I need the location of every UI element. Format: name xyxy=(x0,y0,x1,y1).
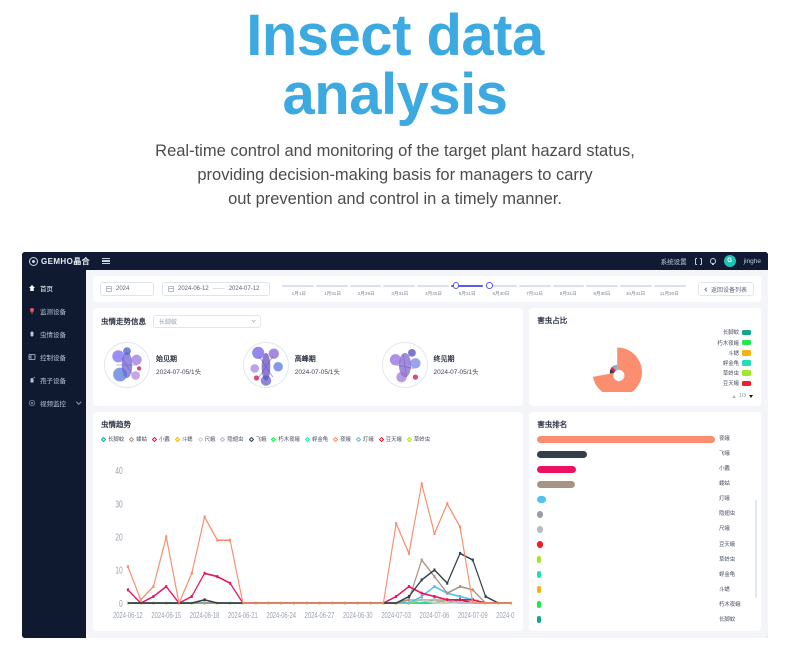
data-point[interactable] xyxy=(152,595,154,598)
data-point[interactable] xyxy=(472,588,474,591)
timeline-segment[interactable] xyxy=(654,285,686,287)
data-point[interactable] xyxy=(433,575,435,578)
date-range-separator: —— xyxy=(213,286,225,292)
data-point[interactable] xyxy=(421,598,423,601)
pest-trend-legend: 长脚蚊蝼蛄小蠹斗蟋尺蛾隐翅虫飞蛾朽木夜蛾蜉金龟夜蛾灯蛾豆天蛾草蛉虫 xyxy=(101,435,515,443)
rank-label: 蝼蛄 xyxy=(719,480,753,488)
data-point[interactable] xyxy=(421,559,423,562)
data-point[interactable] xyxy=(433,568,435,571)
data-point[interactable] xyxy=(472,559,474,562)
rank-bar-row[interactable] xyxy=(537,616,715,624)
data-point[interactable] xyxy=(216,539,218,542)
rank-bar-row[interactable] xyxy=(537,571,715,579)
timeline-tick: 7月31日 xyxy=(518,291,552,297)
page-subtitle-line3: out prevention and control in a timely m… xyxy=(30,188,760,212)
rank-label: 飞蛾 xyxy=(719,450,753,458)
app-body: 首页 监测设备 虫情设备 控制设备 孢子设备 xyxy=(22,270,768,638)
rank-bar[interactable] xyxy=(537,556,541,563)
data-point[interactable] xyxy=(459,585,461,588)
legend-item[interactable]: 蝼蛄 xyxy=(129,435,147,443)
rank-bar[interactable] xyxy=(537,511,542,518)
data-point[interactable] xyxy=(204,515,206,518)
legend-item[interactable]: 长脚蚊 xyxy=(101,435,124,443)
timeline-tick: 6月30日 xyxy=(484,291,518,297)
legend-label: 草蛉虫 xyxy=(723,369,739,377)
y-axis-tick: 0 xyxy=(119,598,123,610)
rank-label: 夜蛾 xyxy=(719,435,753,443)
x-axis-tick: 2024-06-30 xyxy=(343,610,373,620)
sidebar: 首页 监测设备 虫情设备 控制设备 孢子设备 xyxy=(22,270,86,638)
rank-label: 草蛉虫 xyxy=(719,556,753,564)
legend-item[interactable]: 飞蛾 xyxy=(249,435,267,443)
y-axis-tick: 40 xyxy=(115,465,123,477)
back-button-label: 返回设备列表 xyxy=(711,285,747,294)
stage-item: 终见期 2024-07-05/1头 xyxy=(379,339,516,391)
page-subtitle-line1: Real-time control and monitoring of the … xyxy=(30,140,760,164)
rank-scrollbar[interactable] xyxy=(755,500,757,599)
timeline-tick: 4月30日 xyxy=(417,291,451,297)
pest-trend-line-chart[interactable]: 1020304002024-06-122024-06-152024-06-182… xyxy=(101,445,515,624)
timeline-segment[interactable] xyxy=(553,285,585,287)
data-point[interactable] xyxy=(216,575,218,578)
legend-label: 隐翅虫 xyxy=(227,435,243,443)
data-point[interactable] xyxy=(140,598,142,601)
rank-bar[interactable] xyxy=(537,586,541,593)
legend-label: 朽木夜蛾 xyxy=(717,339,739,347)
sidebar-item-control-device[interactable]: 控制设备 xyxy=(22,345,86,368)
stage-list: 始见期 2024-07-05/1头 xyxy=(101,330,515,399)
x-axis-tick: 2024-07-09 xyxy=(458,610,488,620)
timeline-segment[interactable] xyxy=(282,285,314,287)
sidebar-item-home[interactable]: 首页 xyxy=(22,276,86,299)
pest-rank-title: 害虫排名 xyxy=(537,419,753,430)
legend-item[interactable]: 蜉金龟 xyxy=(305,435,328,443)
data-point[interactable] xyxy=(485,595,487,598)
legend-marker-icon xyxy=(249,437,254,442)
stage-item: 高峰期 2024-07-05/1头 xyxy=(240,339,377,391)
sidebar-item-label: 孢子设备 xyxy=(40,375,66,385)
lower-cards-row: 虫情趋势 长脚蚊蝼蛄小蠹斗蟋尺蛾隐翅虫飞蛾朽木夜蛾蜉金龟夜蛾灯蛾豆天蛾草蛉虫 1… xyxy=(93,412,761,631)
legend-marker-icon xyxy=(101,437,106,442)
rank-label: 斗蟋 xyxy=(719,586,753,594)
avatar[interactable]: G xyxy=(724,255,736,267)
date-end-value: 2024-07-12 xyxy=(229,286,260,292)
species-select-value: 长脚蚊 xyxy=(159,317,177,326)
legend-marker-icon xyxy=(407,437,412,442)
line-series[interactable] xyxy=(128,560,511,603)
legend-label: 长脚蚊 xyxy=(723,328,739,336)
rank-label: 尺蛾 xyxy=(719,525,753,533)
rank-bar-row[interactable] xyxy=(537,510,715,518)
calendar-icon xyxy=(106,286,112,292)
data-point[interactable] xyxy=(446,502,448,505)
data-point[interactable] xyxy=(459,595,461,598)
page-root: Insect data analysis Real-time control a… xyxy=(0,0,790,648)
date-start-value: 2024-06-12 xyxy=(178,286,209,292)
legend-marker-icon xyxy=(271,437,276,442)
data-point[interactable] xyxy=(165,585,167,588)
stage-text: 终见期 2024-07-05/1头 xyxy=(434,354,479,376)
x-axis-tick: 2024-07-06 xyxy=(420,610,450,620)
legend-color-chip xyxy=(742,360,751,366)
legend-item[interactable]: 斗蟋 xyxy=(701,349,751,357)
data-point[interactable] xyxy=(421,482,423,485)
main-content: 2024 2024-06-12 —— 2024-07-12 xyxy=(86,270,768,638)
app-topbar: GEMHO晶合 系统设置 G jinghe xyxy=(22,252,768,270)
pager-count: 1/3 xyxy=(739,393,746,399)
brand-logo: GEMHO晶合 xyxy=(29,256,90,267)
system-settings-link[interactable]: 系统设置 xyxy=(661,256,687,266)
timeline-tick: 1月31日 xyxy=(316,291,350,297)
timeline-tick: 10月31日 xyxy=(619,291,653,297)
page-title-line1: Insect data xyxy=(0,6,790,65)
rank-bar-row[interactable] xyxy=(537,525,715,533)
filter-bar: 2024 2024-06-12 —— 2024-07-12 xyxy=(93,276,761,302)
legend-marker-icon xyxy=(198,437,203,442)
y-axis-tick: 10 xyxy=(115,564,123,576)
insect-illustration-icon xyxy=(240,339,292,391)
pest-rank-body: 夜蛾飞蛾小蠹蝼蛄灯蛾隐翅虫尺蛾豆天蛾草蛉虫蜉金龟斗蟋朽木夜蛾长脚蚊 xyxy=(537,435,753,624)
timeline-tick-labels: 1月1日1月31日2月29日3月31日4月30日5月31日6月30日7月31日8… xyxy=(282,291,686,297)
rank-bar-row[interactable] xyxy=(537,495,715,503)
data-point[interactable] xyxy=(395,522,397,525)
app-window: GEMHO晶合 系统设置 G jinghe 首页 监测设备 xyxy=(22,252,768,638)
page-title-line2: analysis xyxy=(0,65,790,124)
pest-ratio-legend: 长脚蚊朽木夜蛾斗蟋蜉金龟草蛉虫豆天蛾 xyxy=(701,328,753,389)
rank-label: 蜉金龟 xyxy=(719,571,753,579)
sidebar-item-label: 虫情设备 xyxy=(40,329,66,339)
x-axis-tick: 2024-06-18 xyxy=(190,610,220,620)
data-point[interactable] xyxy=(446,592,448,595)
x-axis-tick: 2024-06-12 xyxy=(113,610,143,620)
legend-item[interactable]: 尺蛾 xyxy=(198,435,216,443)
legend-item[interactable]: 草蛉虫 xyxy=(407,435,430,443)
data-point[interactable] xyxy=(191,572,193,575)
sidebar-item-label: 监测设备 xyxy=(40,306,66,316)
legend-item[interactable]: 豆天蛾 xyxy=(379,435,402,443)
species-select[interactable]: 长脚蚊 xyxy=(153,315,261,328)
control-device-icon xyxy=(28,353,36,361)
pest-ratio-pager[interactable]: 1/3 xyxy=(537,393,753,399)
timeline-track[interactable] xyxy=(282,281,686,290)
pie-center-hole xyxy=(614,370,625,381)
username-label: jinghe xyxy=(744,258,761,265)
page-subtitle-line2: providing decision-making basis for mana… xyxy=(30,164,760,188)
legend-item[interactable]: 朽木夜蛾 xyxy=(271,435,300,443)
timeline-segments xyxy=(282,285,686,287)
insect-trend-info-card: 虫情走势信息 长脚蚊 xyxy=(93,308,523,406)
pest-trend-card: 虫情趋势 长脚蚊蝼蛄小蠹斗蟋尺蛾隐翅虫飞蛾朽木夜蛾蜉金龟夜蛾灯蛾豆天蛾草蛉虫 1… xyxy=(93,412,523,631)
trend-info-header: 虫情走势信息 长脚蚊 xyxy=(101,315,515,328)
pie-slice[interactable] xyxy=(593,347,642,392)
legend-item[interactable]: 草蛉虫 xyxy=(701,369,751,377)
sidebar-item-label: 控制设备 xyxy=(40,352,66,362)
data-point[interactable] xyxy=(408,585,410,588)
back-to-device-list-button[interactable]: 返回设备列表 xyxy=(698,282,754,296)
data-point[interactable] xyxy=(446,582,448,585)
data-point[interactable] xyxy=(395,595,397,598)
menu-toggle-icon[interactable] xyxy=(102,258,110,265)
rank-bar[interactable] xyxy=(537,466,576,473)
rank-bar-row[interactable] xyxy=(537,465,715,473)
data-point[interactable] xyxy=(229,539,231,542)
timeline-tick: 1月1日 xyxy=(282,291,316,297)
timeline-segment[interactable] xyxy=(519,285,551,287)
legend-label: 灯蛾 xyxy=(363,435,374,443)
insect-device-icon xyxy=(28,330,36,338)
rank-bar[interactable] xyxy=(537,496,546,503)
rank-bar[interactable] xyxy=(537,436,715,443)
legend-item[interactable]: 夜蛾 xyxy=(333,435,351,443)
pager-up-icon[interactable] xyxy=(732,395,736,398)
data-point[interactable] xyxy=(204,598,206,601)
data-point[interactable] xyxy=(165,535,167,538)
year-picker[interactable]: 2024 xyxy=(100,282,154,296)
legend-item[interactable]: 斗蟋 xyxy=(175,435,193,443)
date-range-picker[interactable]: 2024-06-12 —— 2024-07-12 xyxy=(162,282,270,296)
bell-icon[interactable] xyxy=(710,258,716,264)
legend-label: 长脚蚊 xyxy=(108,435,124,443)
legend-marker-icon xyxy=(305,437,310,442)
data-point[interactable] xyxy=(408,598,410,601)
spore-device-icon xyxy=(28,376,36,384)
year-value: 2024 xyxy=(116,286,129,292)
legend-label: 蜉金龟 xyxy=(723,359,739,367)
pager-down-icon[interactable] xyxy=(749,395,753,398)
data-point[interactable] xyxy=(433,585,435,588)
legend-item[interactable]: 蜉金龟 xyxy=(701,359,751,367)
monitor-device-icon xyxy=(28,307,36,315)
pest-trend-title: 虫情趋势 xyxy=(101,419,515,430)
chevron-left-icon xyxy=(704,287,708,291)
brand-name: GEMHO晶合 xyxy=(41,256,90,267)
data-point[interactable] xyxy=(191,595,193,598)
video-monitor-icon xyxy=(28,399,36,407)
stage-text: 始见期 2024-07-05/1头 xyxy=(156,354,201,376)
timeline-segment[interactable] xyxy=(620,285,652,287)
legend-item[interactable]: 长脚蚊 xyxy=(701,328,751,336)
x-axis-tick: 2024-07-03 xyxy=(381,610,411,620)
timeline-segment[interactable] xyxy=(316,285,348,287)
legend-color-chip xyxy=(742,381,751,387)
rank-label: 长脚蚊 xyxy=(719,616,753,624)
stage-text: 高峰期 2024-07-05/1头 xyxy=(295,354,340,376)
stage-value: 2024-07-05/1头 xyxy=(434,366,479,376)
rank-label: 小蠹 xyxy=(719,465,753,473)
page-subtitle: Real-time control and monitoring of the … xyxy=(0,140,790,212)
stage-value: 2024-07-05/1头 xyxy=(295,366,340,376)
timeline-tick: 2月29日 xyxy=(349,291,383,297)
pest-rank-labels: 夜蛾飞蛾小蠹蝼蛄灯蛾隐翅虫尺蛾豆天蛾草蛉虫蜉金龟斗蟋朽木夜蛾长脚蚊 xyxy=(719,435,753,624)
stage-name: 始见期 xyxy=(156,354,201,364)
data-point[interactable] xyxy=(408,552,410,555)
rank-bar-row[interactable] xyxy=(537,450,715,458)
rank-bar-row[interactable] xyxy=(537,541,715,549)
data-point[interactable] xyxy=(459,552,461,555)
topbar-actions: 系统设置 G jinghe xyxy=(661,255,761,267)
rank-bar-row[interactable] xyxy=(537,601,715,609)
rank-bar[interactable] xyxy=(537,571,541,578)
pest-ratio-body: 长脚蚊朽木夜蛾斗蟋蜉金龟草蛉虫豆天蛾 xyxy=(537,326,753,392)
data-point[interactable] xyxy=(459,525,461,528)
data-point[interactable] xyxy=(421,578,423,581)
timeline-tick: 11月30日 xyxy=(652,291,686,297)
pest-rank-bars xyxy=(537,435,719,624)
legend-marker-icon xyxy=(379,437,384,442)
rank-label: 隐翅虫 xyxy=(719,510,753,518)
upper-cards-row: 虫情走势信息 长脚蚊 xyxy=(93,308,761,406)
legend-label: 草蛉虫 xyxy=(414,435,430,443)
legend-marker-icon xyxy=(356,437,361,442)
legend-marker-icon xyxy=(152,437,157,442)
sidebar-item-label: 视频监控 xyxy=(40,398,66,408)
legend-item[interactable]: 豆天蛾 xyxy=(701,379,751,387)
legend-label: 朽木夜蛾 xyxy=(278,435,300,443)
trend-info-title: 虫情走势信息 xyxy=(101,316,146,327)
rank-bar[interactable] xyxy=(537,541,542,548)
timeline-segment[interactable] xyxy=(586,285,618,287)
timeline-tick: 9月30日 xyxy=(585,291,619,297)
stage-value: 2024-07-05/1头 xyxy=(156,366,201,376)
legend-color-chip xyxy=(742,340,751,346)
legend-label: 蜉金龟 xyxy=(312,435,328,443)
calendar-icon xyxy=(168,286,174,292)
legend-color-chip xyxy=(742,370,751,376)
legend-marker-icon xyxy=(129,437,134,442)
x-axis-tick: 2024-07-12 xyxy=(496,610,515,620)
data-point[interactable] xyxy=(433,598,435,601)
data-point[interactable] xyxy=(127,565,129,568)
data-point[interactable] xyxy=(204,572,206,575)
home-icon xyxy=(28,284,36,292)
legend-label: 豆天蛾 xyxy=(386,435,402,443)
data-point[interactable] xyxy=(127,588,129,591)
legend-label: 斗蟋 xyxy=(728,349,739,357)
rank-bar-row[interactable] xyxy=(537,556,715,564)
legend-label: 夜蛾 xyxy=(340,435,351,443)
timeline-handle-left[interactable] xyxy=(453,282,460,289)
data-point[interactable] xyxy=(421,592,423,595)
y-axis-tick: 30 xyxy=(115,498,123,510)
rank-bar[interactable] xyxy=(537,481,574,488)
timeline-tick: 3月31日 xyxy=(383,291,417,297)
data-point[interactable] xyxy=(421,595,423,598)
line-series[interactable] xyxy=(128,484,511,603)
sidebar-item-video-monitor[interactable]: 视频监控 xyxy=(22,391,86,414)
timeline-segment[interactable] xyxy=(417,285,449,287)
legend-label: 尺蛾 xyxy=(205,435,216,443)
rank-label: 豆天蛾 xyxy=(719,541,753,549)
timeline-tick: 8月31日 xyxy=(551,291,585,297)
sidebar-item-monitor-device[interactable]: 监测设备 xyxy=(22,299,86,322)
brand-mark-icon xyxy=(29,257,38,266)
page-title: Insect data analysis xyxy=(0,6,790,124)
rank-label: 灯蛾 xyxy=(719,495,753,503)
insect-illustration-icon xyxy=(101,339,153,391)
timeline-handle-right[interactable] xyxy=(486,282,493,289)
legend-label: 飞蛾 xyxy=(256,435,267,443)
x-axis-tick: 2024-06-27 xyxy=(305,610,335,620)
pest-ratio-card: 害虫占比 长脚蚊朽木夜蛾斗蟋蜉金龟草蛉虫豆天蛾 1/3 xyxy=(529,308,761,406)
rank-bar[interactable] xyxy=(537,526,542,533)
insect-illustration-icon xyxy=(379,339,431,391)
y-axis-tick: 20 xyxy=(115,531,123,543)
legend-marker-icon xyxy=(333,437,338,442)
legend-item[interactable]: 隐翅虫 xyxy=(220,435,243,443)
data-point[interactable] xyxy=(408,595,410,598)
sidebar-item-spore-device[interactable]: 孢子设备 xyxy=(22,368,86,391)
legend-label: 斗蟋 xyxy=(182,435,193,443)
chevron-down-icon xyxy=(251,318,256,323)
timeline-tick: 5月31日 xyxy=(450,291,484,297)
legend-item[interactable]: 小蠹 xyxy=(152,435,170,443)
legend-color-chip xyxy=(742,330,751,336)
legend-label: 小蠹 xyxy=(159,435,170,443)
legend-color-chip xyxy=(742,350,751,356)
chevron-down-icon xyxy=(76,399,81,404)
legend-item[interactable]: 朽木夜蛾 xyxy=(701,339,751,347)
fullscreen-icon[interactable] xyxy=(695,258,702,265)
rank-label: 朽木夜蛾 xyxy=(719,601,753,609)
sidebar-item-label: 首页 xyxy=(40,283,53,293)
x-axis-tick: 2024-06-15 xyxy=(151,610,181,620)
pest-ratio-pie-chart[interactable] xyxy=(537,326,701,392)
legend-item[interactable]: 灯蛾 xyxy=(356,435,374,443)
rank-bar[interactable] xyxy=(537,601,541,608)
rank-bar-row[interactable] xyxy=(537,586,715,594)
rank-bar-row[interactable] xyxy=(537,480,715,488)
hero-section: Insect data analysis Real-time control a… xyxy=(0,0,790,212)
data-point[interactable] xyxy=(433,595,435,598)
legend-label: 豆天蛾 xyxy=(723,379,739,387)
timeline-segment[interactable] xyxy=(350,285,382,287)
data-point[interactable] xyxy=(433,532,435,535)
x-axis-tick: 2024-06-21 xyxy=(228,610,258,620)
timeline-segment[interactable] xyxy=(383,285,415,287)
data-point[interactable] xyxy=(229,582,231,585)
rank-bar[interactable] xyxy=(537,616,541,623)
stage-name: 终见期 xyxy=(434,354,479,364)
data-point[interactable] xyxy=(152,585,154,588)
pest-rank-card: 害虫排名 夜蛾飞蛾小蠹蝼蛄灯蛾隐翅虫尺蛾豆天蛾草蛉虫蜉金龟斗蟋朽木夜蛾长脚蚊 xyxy=(529,412,761,631)
pest-ratio-title: 害虫占比 xyxy=(537,315,753,326)
stage-item: 始见期 2024-07-05/1头 xyxy=(101,339,238,391)
timeline-slider[interactable]: 1月1日1月31日2月29日3月31日4月30日5月31日6月30日7月31日8… xyxy=(278,281,690,297)
legend-label: 蝼蛄 xyxy=(136,435,147,443)
stage-name: 高峰期 xyxy=(295,354,340,364)
data-point[interactable] xyxy=(446,598,448,601)
rank-bar[interactable] xyxy=(537,451,587,458)
legend-marker-icon xyxy=(220,437,225,442)
sidebar-item-insect-device[interactable]: 虫情设备 xyxy=(22,322,86,345)
rank-bar-row[interactable] xyxy=(537,435,715,443)
x-axis-tick: 2024-06-24 xyxy=(266,610,296,620)
legend-marker-icon xyxy=(175,437,180,442)
data-point[interactable] xyxy=(459,598,461,601)
